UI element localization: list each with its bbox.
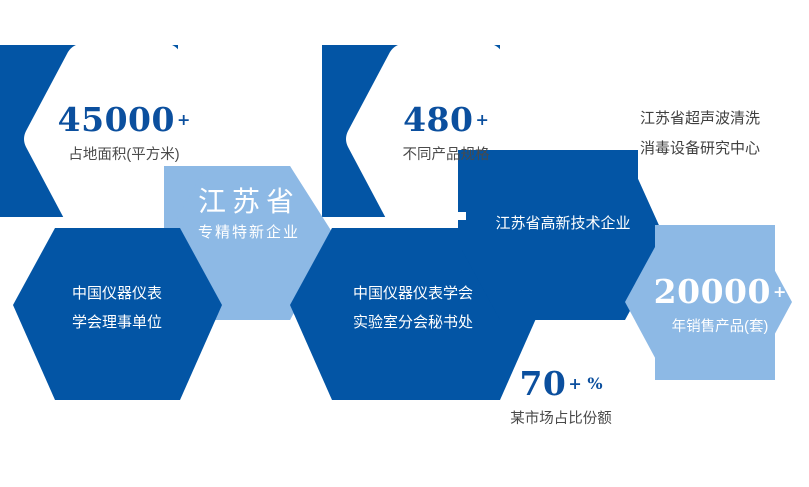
white-separator-tick <box>404 212 466 220</box>
hexagon-honeycomb-graphic <box>0 0 809 487</box>
sales-band-fill <box>655 225 775 380</box>
hightech-band-fill <box>458 150 638 250</box>
hex-stats-infographic: 45000+ 占地面积(平方米) 480+ 不同产品规格 20000+ 年销售产… <box>0 0 809 487</box>
top-left-band-lower-fill <box>55 228 180 318</box>
